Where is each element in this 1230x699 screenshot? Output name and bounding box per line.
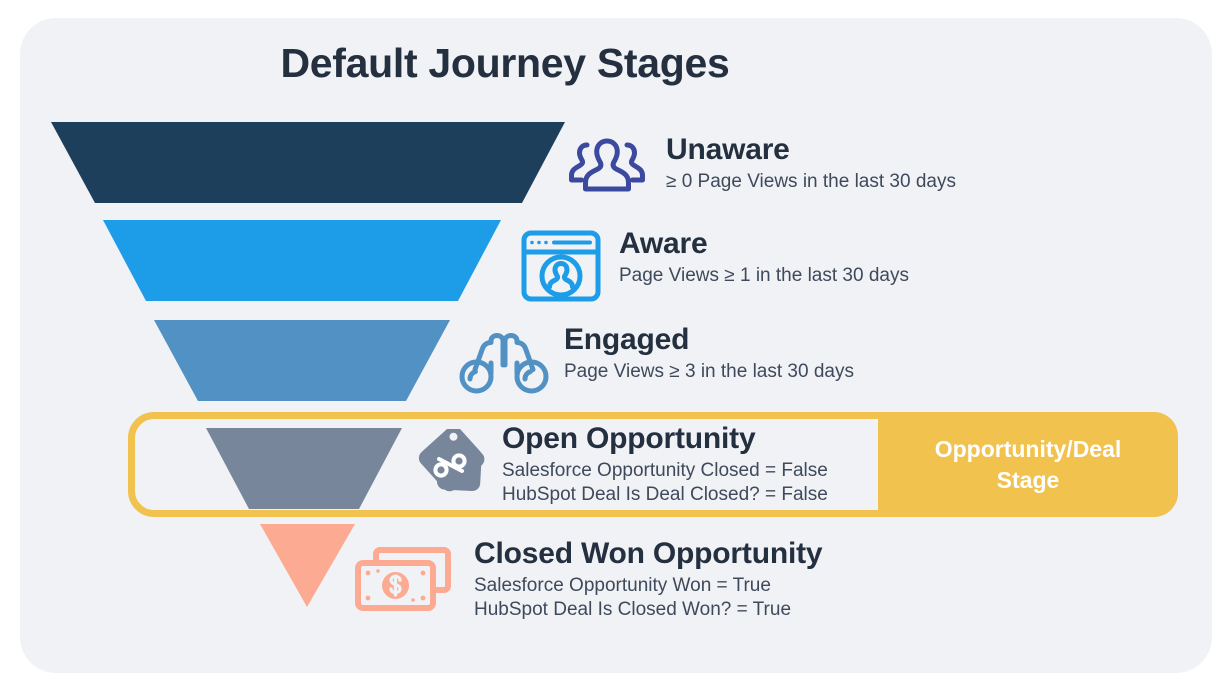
stage-desc-aware: Page Views ≥ 1 in the last 30 days — [619, 264, 909, 288]
funnel-segment-unaware — [51, 122, 565, 203]
stage-text-unaware: Unaware ≥ 0 Page Views in the last 30 da… — [666, 134, 956, 194]
three-people-icon — [566, 136, 648, 201]
diagram-root: Default Journey Stages Opportunity/Deal … — [0, 0, 1230, 699]
opportunity-deal-stage-badge: Opportunity/Deal Stage — [878, 412, 1178, 517]
stage-row-open-opportunity: Open Opportunity Salesforce Opportunity … — [416, 423, 828, 507]
badge-line-2: Stage — [997, 467, 1060, 493]
stage-text-open-opportunity: Open Opportunity Salesforce Opportunity … — [502, 423, 828, 507]
stage-desc-unaware: ≥ 0 Page Views in the last 30 days — [666, 170, 956, 194]
stage-label-engaged: Engaged — [564, 324, 854, 356]
badge-label: Opportunity/Deal Stage — [935, 434, 1122, 495]
binoculars-icon — [458, 332, 550, 399]
browser-window-avatar-icon — [519, 228, 603, 309]
stage-text-closed-won: Closed Won Opportunity Salesforce Opport… — [474, 538, 822, 622]
funnel-segment-aware — [103, 220, 501, 301]
percent-tag-icon — [416, 429, 488, 506]
stage-label-aware: Aware — [619, 228, 909, 260]
stage-row-closed-won: Closed Won Opportunity Salesforce Opport… — [354, 538, 822, 622]
stage-text-aware: Aware Page Views ≥ 1 in the last 30 days — [619, 228, 909, 288]
money-bills-icon — [354, 546, 454, 617]
stage-label-unaware: Unaware — [666, 134, 956, 166]
stage-desc-open-opportunity: Salesforce Opportunity Closed = False Hu… — [502, 459, 828, 507]
stage-row-engaged: Engaged Page Views ≥ 3 in the last 30 da… — [458, 324, 854, 399]
stage-desc-closed-won: Salesforce Opportunity Won = True HubSpo… — [474, 574, 822, 622]
funnel-segment-closed-won — [260, 524, 355, 607]
funnel-segment-engaged — [154, 320, 450, 401]
badge-line-1: Opportunity/Deal — [935, 436, 1122, 462]
stage-desc-engaged: Page Views ≥ 3 in the last 30 days — [564, 360, 854, 384]
stage-row-unaware: Unaware ≥ 0 Page Views in the last 30 da… — [566, 134, 956, 201]
stage-label-open-opportunity: Open Opportunity — [502, 423, 828, 455]
funnel-segment-open-opportunity — [206, 428, 402, 509]
stage-row-aware: Aware Page Views ≥ 1 in the last 30 days — [519, 228, 909, 309]
stage-text-engaged: Engaged Page Views ≥ 3 in the last 30 da… — [564, 324, 854, 384]
stage-label-closed-won: Closed Won Opportunity — [474, 538, 822, 570]
